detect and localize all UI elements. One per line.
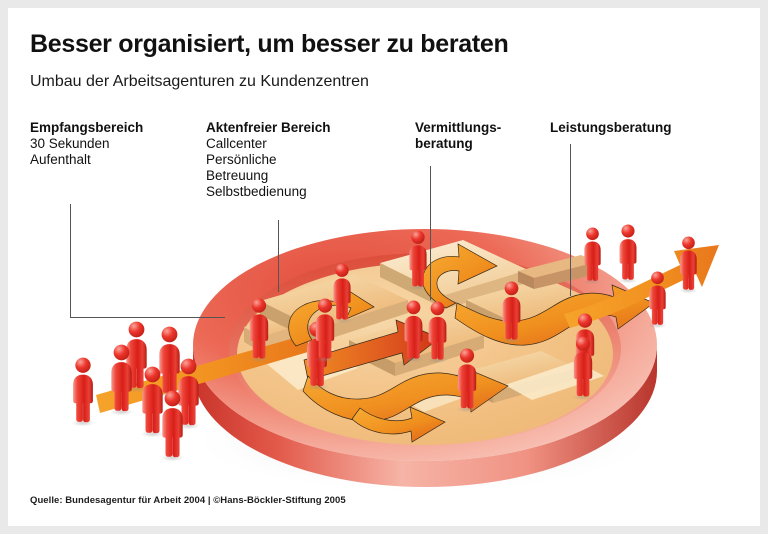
figure	[618, 225, 637, 284]
leader-line-aktenfreier-bereich	[278, 220, 279, 292]
illustration-kundenzentrum-disc	[8, 8, 760, 526]
leader-line-vermittlungsberatung	[430, 166, 431, 300]
leader-line-empfangsbereich-horizontal	[70, 317, 225, 318]
leader-line-leistungsberatung	[570, 144, 571, 296]
figure	[72, 358, 95, 427]
figure	[679, 236, 698, 293]
leader-line-empfangsbereich-vertical	[70, 204, 71, 318]
source-note: Quelle: Bundesagentur für Arbeit 2004 | …	[30, 495, 346, 506]
infographic-page: Besser organisiert, um besser zu beraten…	[8, 8, 760, 526]
